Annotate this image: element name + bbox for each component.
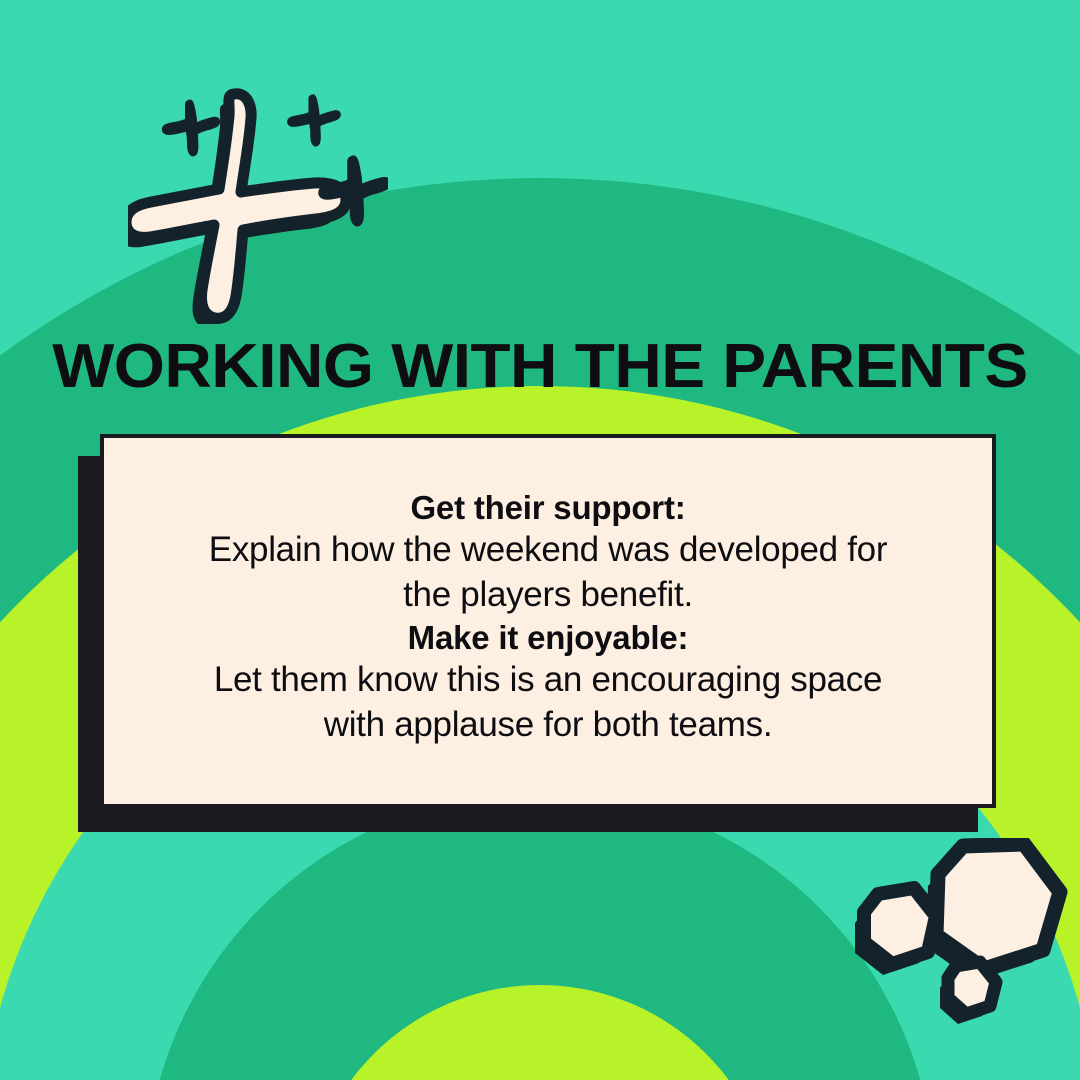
card-body-line-4: with applause for both teams. [138, 703, 958, 748]
hexagon-cluster-decoration [838, 838, 1080, 1034]
card-body-line-2: the players benefit. [138, 573, 958, 618]
hexagon-icon-large [936, 844, 1060, 969]
card-heading-1: Get their support: [138, 488, 958, 528]
card-body-line-1: Explain how the weekend was developed fo… [138, 528, 958, 573]
hexagon-icon-small [948, 962, 996, 1014]
cross-icon [162, 99, 220, 156]
sparkle-decoration [128, 84, 388, 324]
cross-icon [287, 94, 341, 146]
page-title: WORKING WITH THE PARENTS [0, 336, 1080, 398]
hexagon-icon-medium [864, 888, 936, 964]
poster-canvas: WORKING WITH THE PARENTS Get their suppo… [0, 0, 1080, 1080]
content-card: Get their support: Explain how the weeke… [100, 434, 996, 808]
card-body-line-3: Let them know this is an encouraging spa… [138, 658, 958, 703]
card-heading-2: Make it enjoyable: [138, 618, 958, 658]
